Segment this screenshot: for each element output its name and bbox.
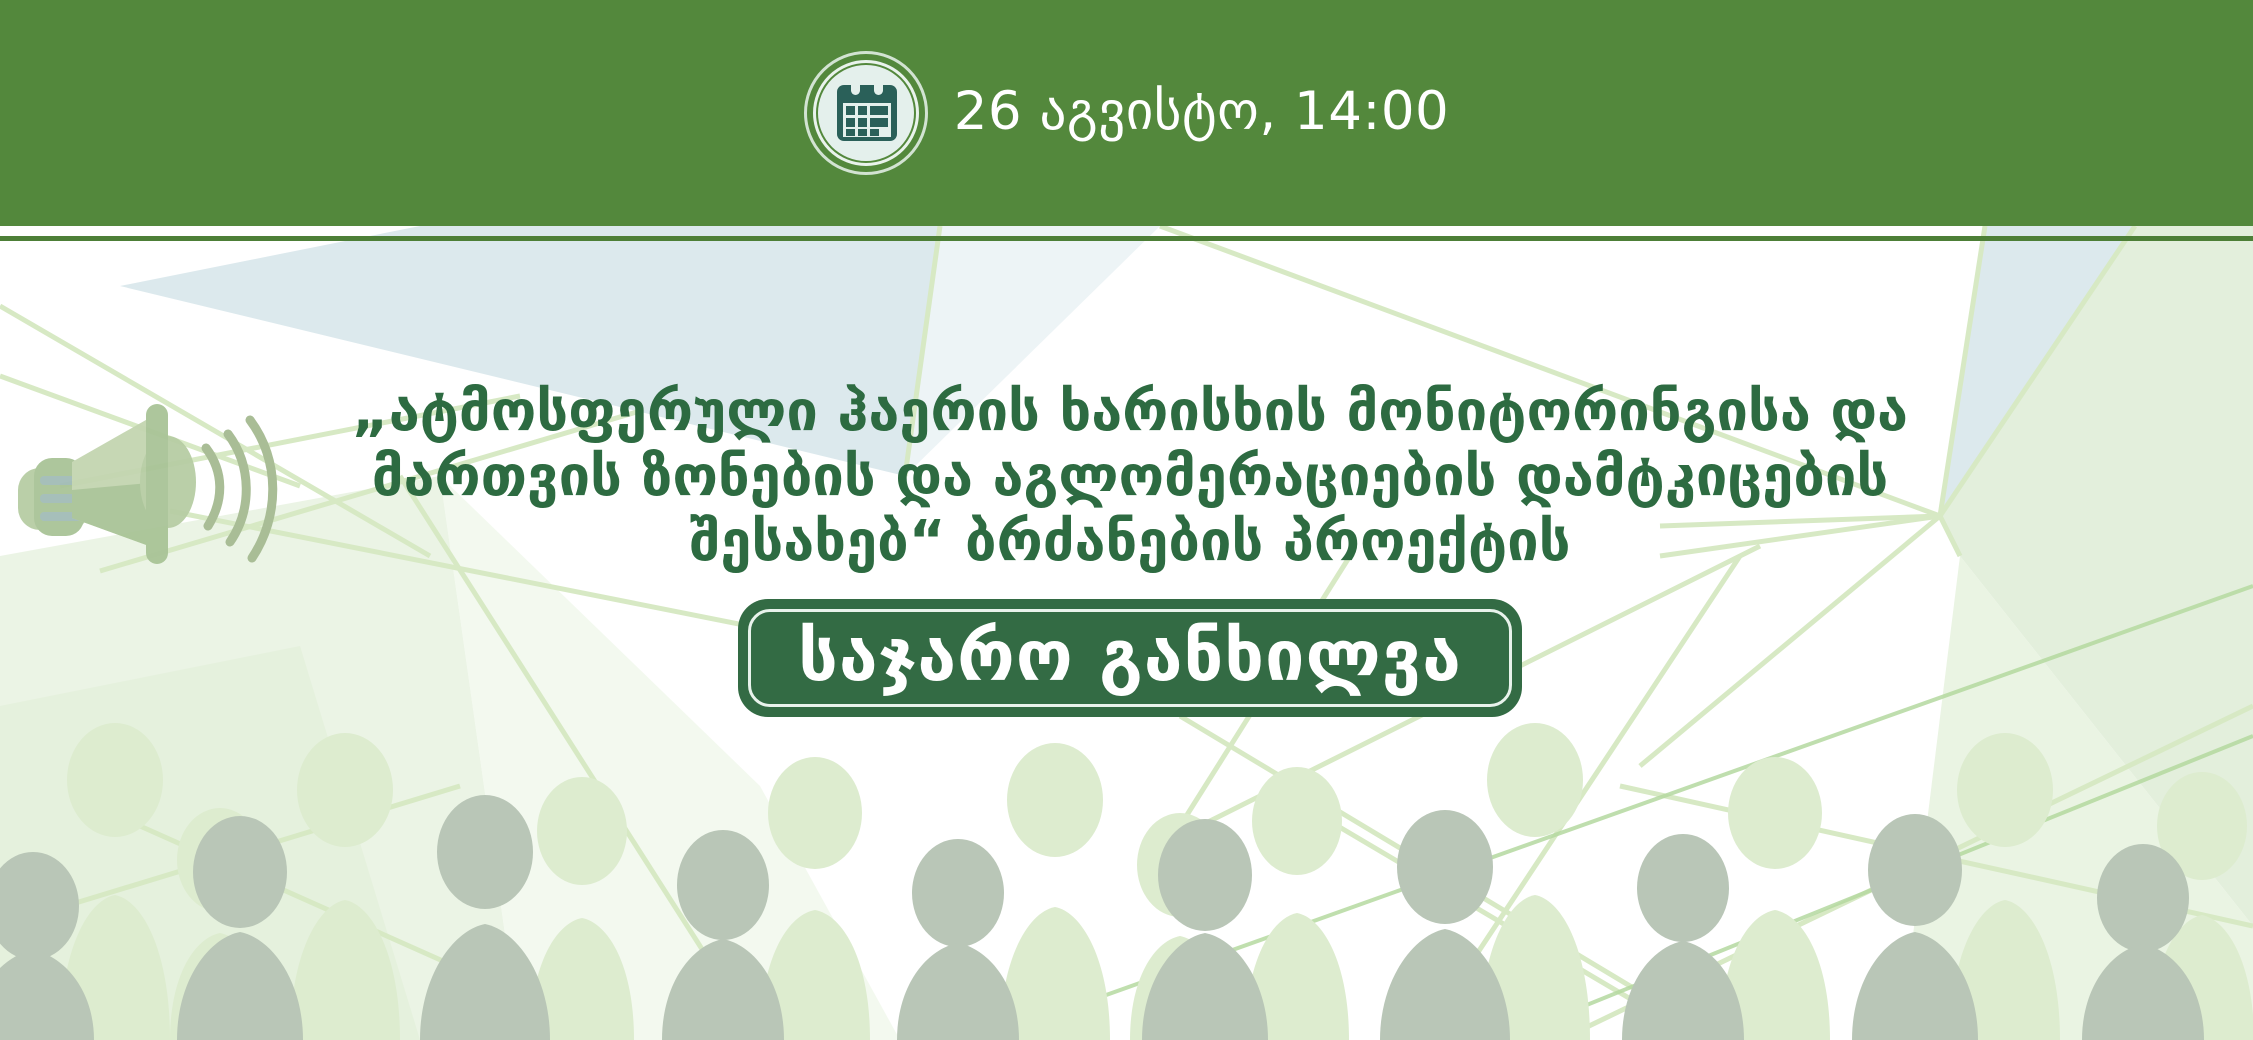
calendar-glyph xyxy=(833,77,901,147)
public-discussion-badge[interactable]: საჯარო განხილვა xyxy=(738,599,1522,717)
header-divider-rule xyxy=(0,236,2253,241)
title-line-2: მართვის ზონების და აგლომერაციების დამტკი… xyxy=(280,445,1980,510)
header-bar: 26 აგვისტო, 14:00 xyxy=(0,0,2253,226)
event-date-time: 26 აგვისტო, 14:00 xyxy=(954,85,1450,142)
cta-container: საჯარო განხილვა xyxy=(280,599,1980,717)
cta-label: საჯარო განხილვა xyxy=(798,615,1462,697)
event-announcement-banner: 26 აგვისტო, 14:00 „ატმოსფერული ჰაერის ხა… xyxy=(0,0,2253,1040)
main-content: „ატმოსფერული ჰაერის ხარისხის მონიტორინგი… xyxy=(280,380,1980,717)
megaphone-icon xyxy=(10,390,300,590)
title-line-1: „ატმოსფერული ჰაერის ხარისხის მონიტორინგი… xyxy=(280,380,1980,445)
page-title: „ატმოსფერული ჰაერის ხარისხის მონიტორინგი… xyxy=(280,380,1980,575)
calendar-icon xyxy=(804,51,928,175)
title-line-3: შესახებ“ ბრძანების პროექტის xyxy=(280,510,1980,575)
crowd-silhouettes xyxy=(0,710,2253,1040)
header-content: 26 აგვისტო, 14:00 xyxy=(0,0,2253,226)
